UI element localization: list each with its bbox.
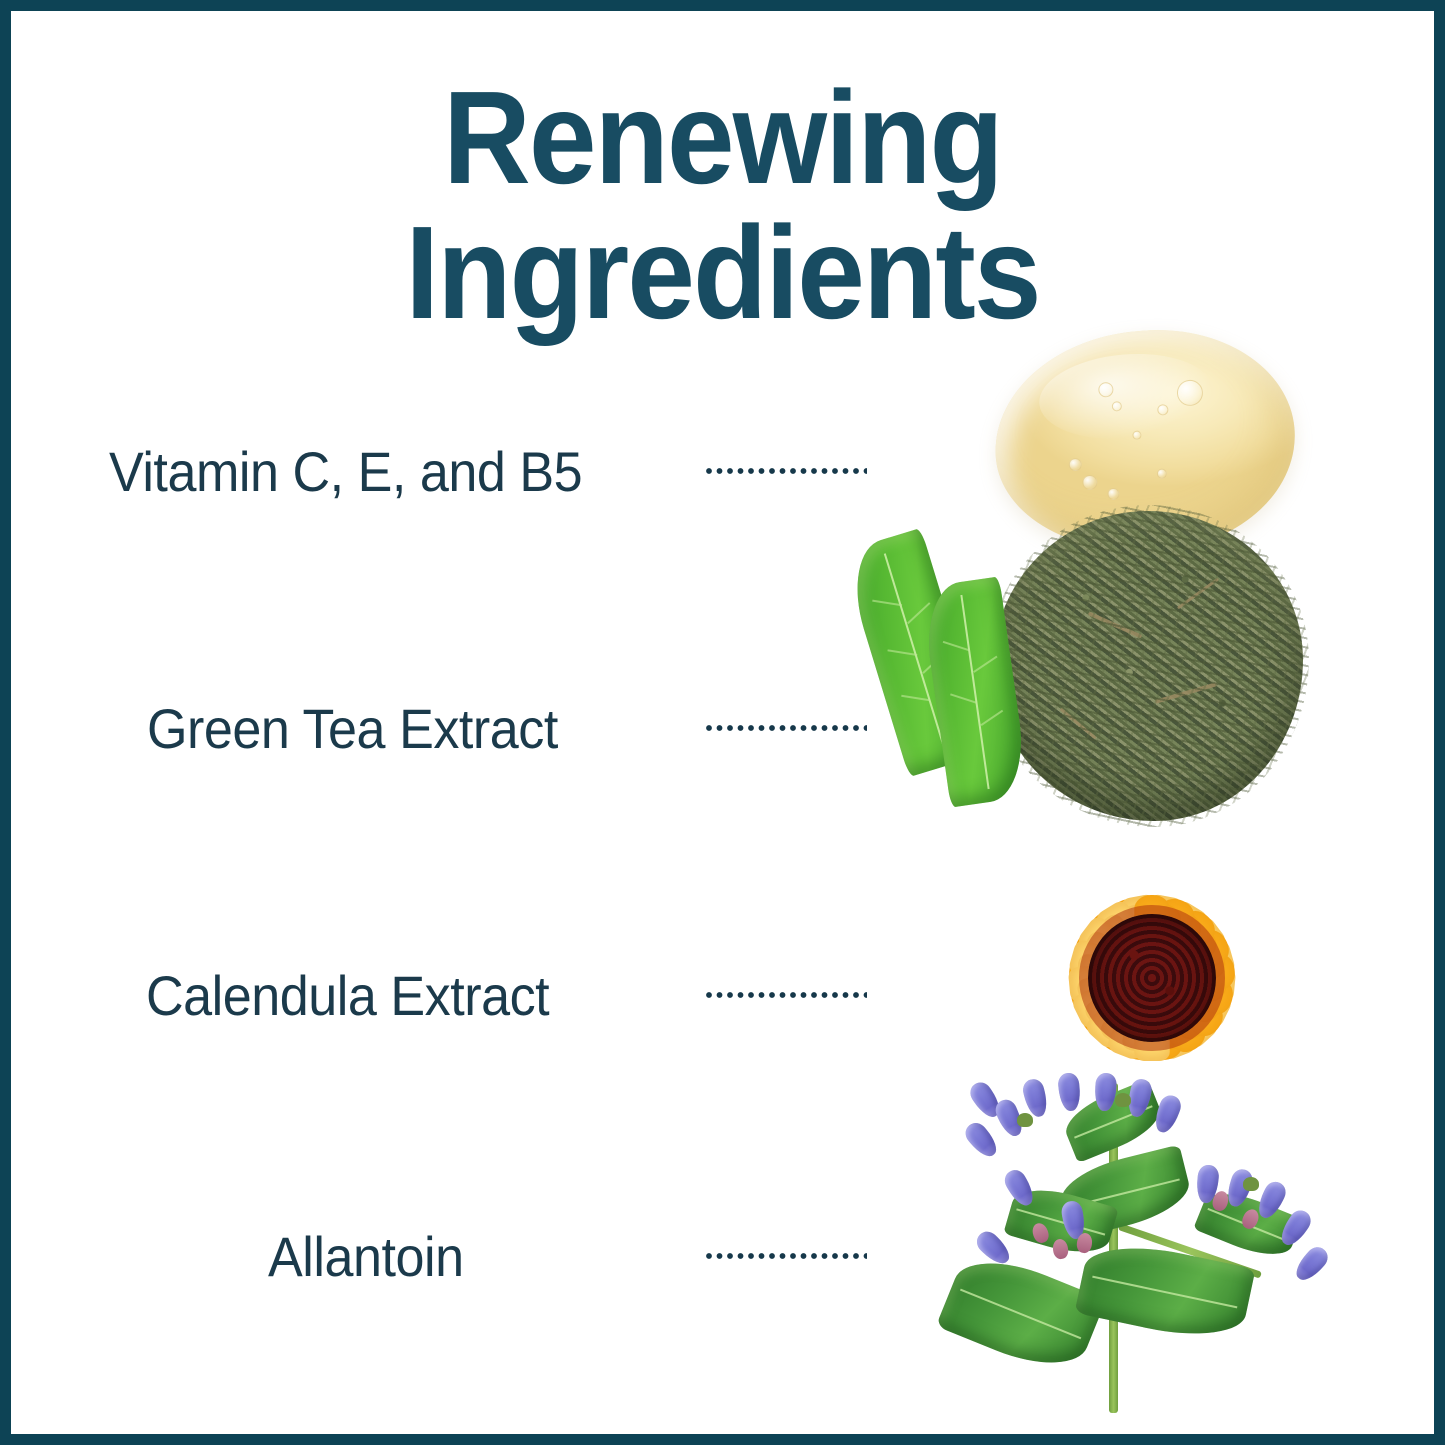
ingredient-row: Vitamin C, E, and B5 [13,436,873,506]
leaf-vein [901,695,929,701]
serum-bubble-icon [1156,468,1167,479]
ingredient-label-green-tea: Green Tea Extract [147,696,558,761]
ingredient-label-allantoin: Allantoin [268,1224,464,1289]
leaf-midrib [1092,1276,1237,1309]
leaf-vein [907,602,930,624]
comfrey-plant-image [913,1073,1383,1434]
tea-twig [1088,611,1143,638]
ingredient-row: Green Tea Extract [13,693,873,763]
leaf-vein [973,656,997,673]
comfrey-flower [961,1119,1002,1162]
serum-bubble-icon [1082,474,1098,490]
image-border-frame: Renewing Ingredients Vitamin C, E, and B… [0,0,1445,1445]
comfrey-leaf [1075,1234,1256,1347]
comfrey-flower [1057,1072,1082,1112]
infographic-canvas: Renewing Ingredients Vitamin C, E, and B… [11,11,1434,1434]
ingredient-label-vitamins: Vitamin C, E, and B5 [109,439,582,504]
dried-green-tea-pile-image [993,511,1303,821]
serum-bubble-icon [1068,458,1082,472]
serum-bubble-icon [1107,487,1120,500]
comfrey-calyx [1017,1113,1033,1127]
ingredient-row: Calendula Extract [13,960,873,1030]
leaf-midrib [960,595,989,789]
tea-twig [1155,682,1218,703]
ingredient-row: Allantoin [13,1221,873,1291]
calendula-center-disc [1088,914,1216,1042]
botanical-collage [843,313,1433,1434]
comfrey-calyx [1243,1177,1259,1191]
tea-twig [1059,707,1096,739]
comfrey-flower [1291,1243,1332,1285]
leaf-midrib [960,1289,1082,1340]
serum-bubble-icon [1132,430,1142,440]
tea-twig [1177,577,1219,609]
comfrey-calyx [1115,1093,1131,1107]
leaf-vein [980,709,1002,725]
ingredient-label-calendula: Calendula Extract [146,963,549,1028]
